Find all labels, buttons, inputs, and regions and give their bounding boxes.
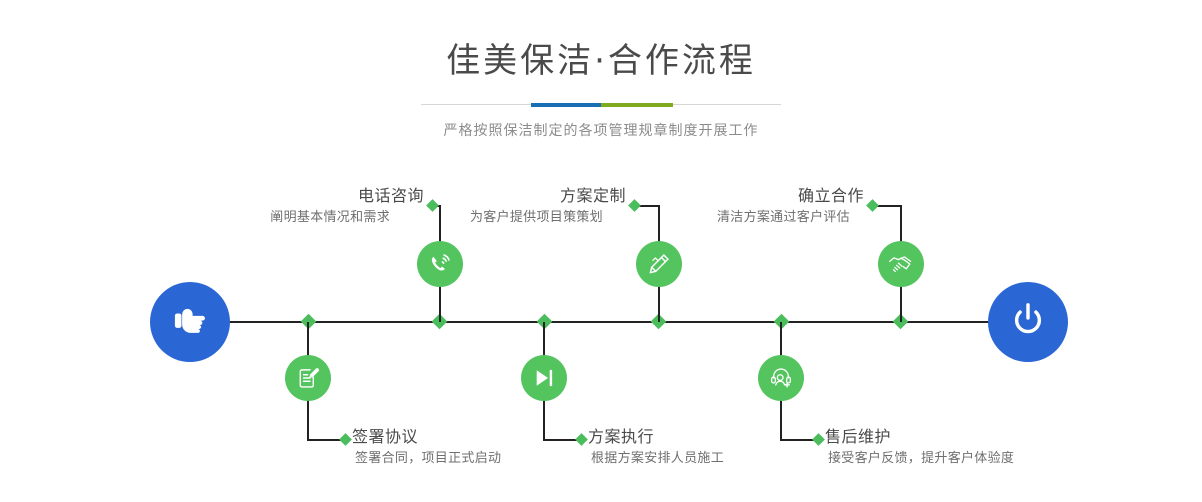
step-title-2: 签署协议 — [352, 427, 501, 447]
page-title: 佳美保洁·合作流程 — [0, 0, 1202, 78]
step-desc-1: 阐明基本情况和需求 — [200, 208, 424, 227]
timeline-end-endpoint — [988, 282, 1068, 362]
step-desc-6: 接受客户反馈，提升客户体验度 — [825, 449, 1014, 468]
step-desc-3: 为客户提供项目策策划 — [420, 208, 626, 227]
step-icon-3 — [636, 241, 682, 287]
step-desc-5: 清洁方案通过客户评估 — [668, 208, 864, 227]
step-icon-4 — [521, 355, 567, 401]
step-desc-2: 签署合同，项目正式启动 — [352, 449, 501, 468]
label-marker-step-3 — [628, 199, 641, 212]
step-desc-4: 根据方案安排人员施工 — [588, 449, 724, 468]
flow-chart-page: 佳美保洁·合作流程 严格按照保洁制定的各项管理规章制度开展工作 — [0, 0, 1202, 502]
step-label-3: 方案定制 为客户提供项目策策划 — [420, 186, 626, 227]
label-marker-step-5 — [866, 199, 879, 212]
play-execute-icon — [531, 365, 557, 391]
step-label-4: 方案执行 根据方案安排人员施工 — [588, 427, 724, 468]
step-title-4: 方案执行 — [588, 427, 724, 447]
page-subtitle: 严格按照保洁制定的各项管理规章制度开展工作 — [0, 120, 1202, 140]
step-label-6: 售后维护 接受客户反馈，提升客户体验度 — [825, 427, 1014, 468]
step-label-2: 签署协议 签署合同，项目正式启动 — [352, 427, 501, 468]
step-title-6: 售后维护 — [825, 427, 1014, 447]
pen-design-icon — [646, 251, 672, 277]
step-title-5: 确立合作 — [668, 186, 864, 206]
timeline-start-endpoint — [150, 282, 230, 362]
handshake-icon — [887, 250, 915, 278]
label-marker-step-6 — [812, 433, 825, 446]
step-label-1: 电话咨询 阐明基本情况和需求 — [200, 186, 424, 227]
divider-segment-blue — [531, 103, 601, 107]
step-title-1: 电话咨询 — [200, 186, 424, 206]
label-marker-step-2 — [339, 433, 352, 446]
step-label-5: 确立合作 清洁方案通过客户评估 — [668, 186, 864, 227]
header: 佳美保洁·合作流程 严格按照保洁制定的各项管理规章制度开展工作 — [0, 0, 1202, 140]
step-icon-6 — [758, 355, 804, 401]
step-icon-1 — [417, 241, 463, 287]
step-icon-2 — [285, 355, 331, 401]
document-edit-icon — [295, 365, 321, 391]
divider-segment-green — [601, 103, 673, 107]
headset-support-icon — [768, 365, 794, 391]
step-icon-5 — [878, 241, 924, 287]
title-divider — [421, 100, 781, 110]
pointing-hand-icon — [169, 299, 211, 345]
phone-call-icon — [427, 251, 453, 277]
power-icon — [1006, 298, 1050, 346]
label-marker-step-4 — [575, 433, 588, 446]
step-title-3: 方案定制 — [420, 186, 626, 206]
